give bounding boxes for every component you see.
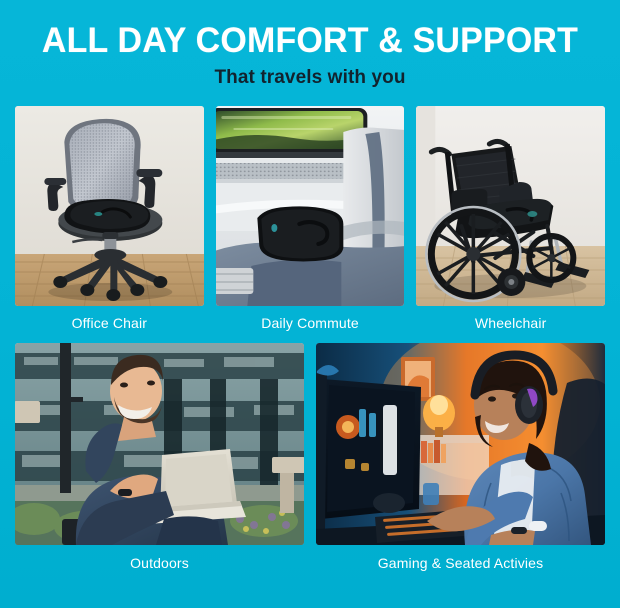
grid-item-gaming[interactable]: Gaming & Seated Activies <box>316 343 605 571</box>
grid-row-1: Office Chair <box>15 106 605 331</box>
office-chair-image <box>15 106 204 306</box>
page-subtitle: That travels with you <box>0 67 620 89</box>
caption-wheelchair: Wheelchair <box>416 315 605 331</box>
caption-office-chair: Office Chair <box>15 315 204 331</box>
grid-item-office-chair[interactable]: Office Chair <box>15 106 204 331</box>
promo-infographic: ALL DAY COMFORT & SUPPORT That travels w… <box>0 0 620 608</box>
use-case-grid: Office Chair <box>0 106 620 571</box>
gaming-image <box>316 343 605 545</box>
grid-item-wheelchair[interactable]: Wheelchair <box>416 106 605 331</box>
grid-item-outdoors[interactable]: Outdoors <box>15 343 304 571</box>
outdoors-image <box>15 343 304 545</box>
caption-gaming: Gaming & Seated Activies <box>316 555 605 571</box>
caption-outdoors: Outdoors <box>15 555 304 571</box>
grid-item-daily-commute[interactable]: Daily Commute <box>216 106 405 331</box>
grid-row-2: Outdoors <box>15 343 605 571</box>
daily-commute-image <box>216 106 405 306</box>
page-title: ALL DAY COMFORT & SUPPORT <box>9 22 610 60</box>
wheelchair-image <box>416 106 605 306</box>
header: ALL DAY COMFORT & SUPPORT That travels w… <box>0 0 620 89</box>
caption-daily-commute: Daily Commute <box>216 315 405 331</box>
